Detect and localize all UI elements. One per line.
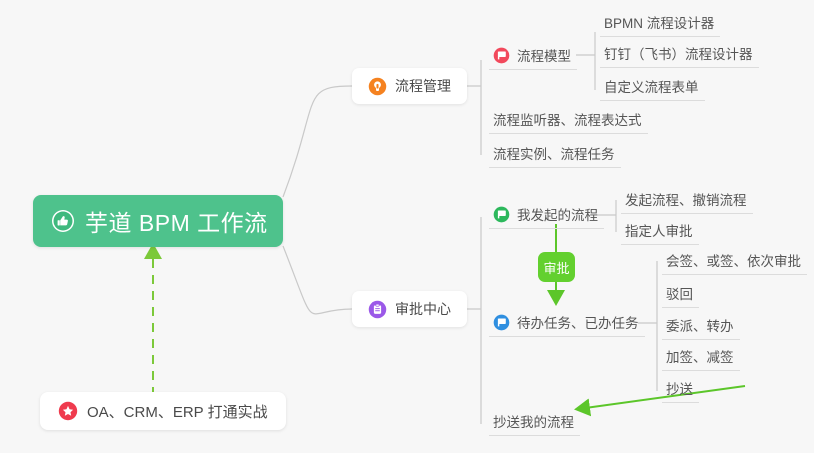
node-my-initiated-process[interactable]: 我发起的流程 [489,200,604,229]
node-label: 自定义流程表单 [604,76,699,96]
node-custom-process-form[interactable]: 自定义流程表单 [600,72,705,101]
node-label: 我发起的流程 [517,204,598,224]
node-label: 待办任务、已办任务 [517,312,639,332]
node-add-remove-sign[interactable]: 加签、减签 [662,342,740,371]
mindmap-canvas: 芋道 BPM 工作流 流程管理 流程模型 BPMN 流程设计器 钉钉（飞书）流程… [0,0,814,453]
node-label: 驳回 [666,283,693,303]
node-label: 流程模型 [517,45,571,65]
integration-card[interactable]: OA、CRM、ERP 打通实战 [40,392,286,430]
flag-icon [493,47,510,64]
integration-card-label: OA、CRM、ERP 打通实战 [87,401,268,422]
node-label: 流程实例、流程任务 [493,143,615,163]
node-label: 钉钉（飞书）流程设计器 [604,43,753,63]
branch-process-management[interactable]: 流程管理 [352,68,467,104]
node-carbon-copy[interactable]: 抄送 [662,374,699,403]
node-start-cancel-process[interactable]: 发起流程、撤销流程 [621,185,753,214]
node-process-model[interactable]: 流程模型 [489,41,577,70]
node-reject[interactable]: 驳回 [662,279,699,308]
thumbs-up-icon [51,209,75,233]
node-cc-to-me-process[interactable]: 抄送我的流程 [489,407,580,436]
lightbulb-icon [368,77,387,96]
node-todo-done-tasks[interactable]: 待办任务、已办任务 [489,308,645,337]
node-process-instance-task[interactable]: 流程实例、流程任务 [489,139,621,168]
node-label: 流程监听器、流程表达式 [493,109,642,129]
clipboard-icon [368,300,387,319]
branch-approval-center[interactable]: 审批中心 [352,291,467,327]
node-countersign-orsign-sequential[interactable]: 会签、或签、依次审批 [662,246,807,275]
node-dingtalk-feishu-designer[interactable]: 钉钉（飞书）流程设计器 [600,39,759,68]
node-label: 发起流程、撤销流程 [625,189,747,209]
branch-label: 审批中心 [395,299,451,319]
edge-root-to-process-management [283,86,352,197]
branch-label: 流程管理 [395,76,451,96]
node-process-listener-expression[interactable]: 流程监听器、流程表达式 [489,105,648,134]
node-label: 加签、减签 [666,346,734,366]
star-icon [58,401,78,421]
node-label: 会签、或签、依次审批 [666,250,801,270]
node-assignee-approval[interactable]: 指定人审批 [621,216,699,245]
node-label: BPMN 流程设计器 [604,12,714,32]
root-label: 芋道 BPM 工作流 [85,204,268,238]
node-label: 指定人审批 [625,220,693,240]
node-label: 委派、转办 [666,315,734,335]
flag-icon [493,206,510,223]
edge-root-to-approval-center [283,246,352,314]
approval-chip-label: 审批 [544,258,570,277]
node-delegate-transfer[interactable]: 委派、转办 [662,311,740,340]
flag-icon [493,314,510,331]
node-label: 抄送 [666,378,693,398]
approval-chip: 审批 [538,252,575,282]
node-label: 抄送我的流程 [493,411,574,431]
root-node[interactable]: 芋道 BPM 工作流 [33,195,283,247]
node-bpmn-designer[interactable]: BPMN 流程设计器 [600,8,720,37]
